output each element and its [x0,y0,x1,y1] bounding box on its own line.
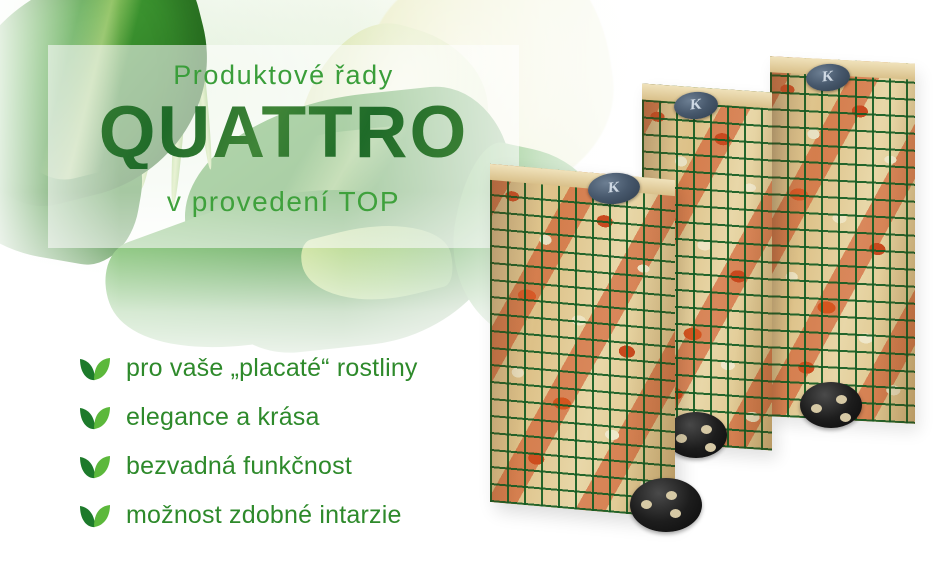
leaf-bullet-icon [78,502,112,530]
brand-badge-label: K [690,97,702,113]
subheading-text: v provedení TOP [48,186,519,218]
product-pole-tall [770,56,915,424]
list-item-label: elegance a krása [126,403,320,432]
feature-list: pro vaše „placaté“ rostliny elegance a k… [78,344,508,540]
list-item-label: bezvadná funkčnost [126,452,352,481]
product-pole-large [490,164,675,518]
promo-banner: Produktové řady QUATTRO v provedení TOP … [0,0,945,572]
list-item-label: možnost zdobné intarzie [126,501,402,530]
leaf-bullet-icon [78,453,112,481]
brand-badge-label: K [822,69,834,85]
leaf-bullet-icon [78,404,112,432]
list-item-label: pro vaše „placaté“ rostliny [126,354,418,383]
list-item: možnost zdobné intarzie [78,491,508,540]
list-item: elegance a krása [78,393,508,442]
pole-foot-cap [630,478,702,532]
list-item: pro vaše „placaté“ rostliny [78,344,508,393]
page-title: QUATTRO [48,96,519,169]
pole-foot-cap [800,382,862,428]
product-image-group: K K K [470,0,945,572]
leaf-bullet-icon [78,355,112,383]
brand-badge-label: K [608,180,620,196]
list-item: bezvadná funkčnost [78,442,508,491]
eyebrow-text: Produktové řady [48,60,519,91]
